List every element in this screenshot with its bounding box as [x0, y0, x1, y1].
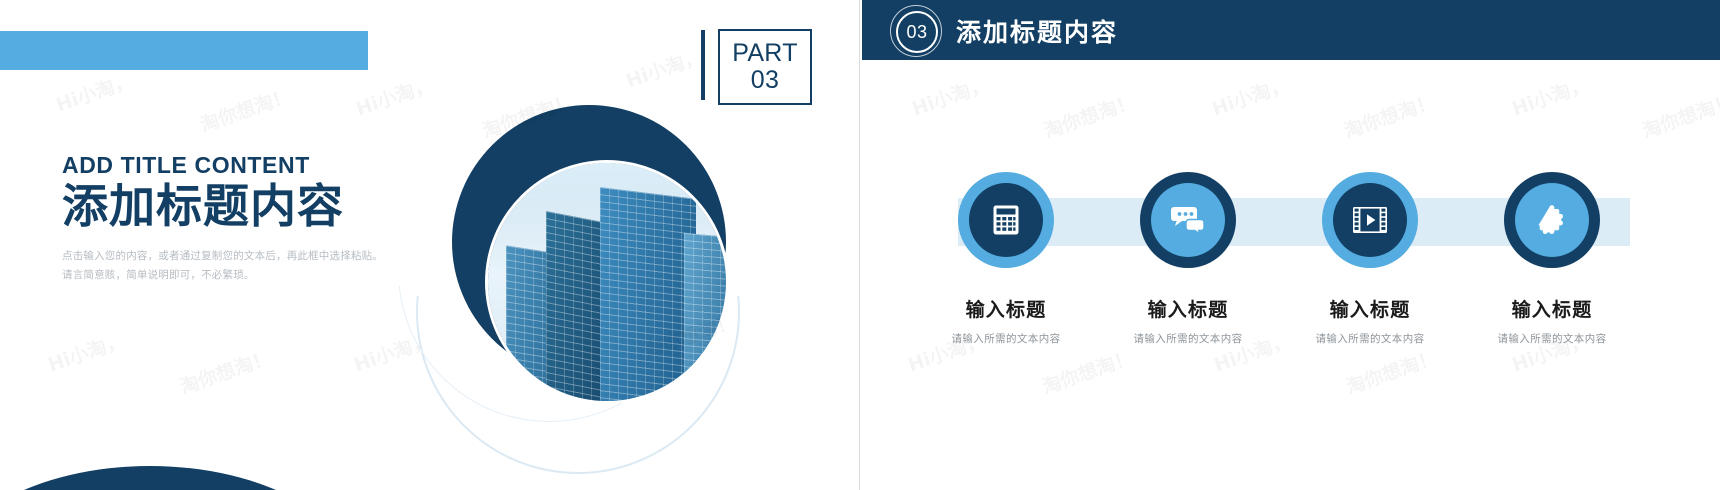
step-caption-2: 输入标题 请输入所需的文本内容 [1088, 295, 1288, 346]
step-caption-4: 输入标题 请输入所需的文本内容 [1452, 295, 1652, 346]
photo-circle [488, 163, 726, 401]
watermark: 淘你想淘！ [196, 81, 295, 137]
watermark: Hi小淘， [52, 66, 136, 117]
circular-photo-composition [452, 105, 726, 379]
step-node-3[interactable] [1322, 172, 1418, 268]
accent-bar [0, 31, 368, 70]
part-number: 03 [751, 67, 779, 94]
watermark: Hi小淘， [1508, 70, 1592, 121]
steps-row [860, 172, 1720, 292]
chat-bubbles-icon [1171, 206, 1205, 234]
node-core [969, 183, 1043, 257]
node-core [1515, 183, 1589, 257]
watermark: 淘你想淘！ [1340, 87, 1439, 143]
slide-right-section-content: 03 添加标题内容 [860, 0, 1720, 490]
watermark: 淘你想淘！ [1038, 343, 1137, 399]
step-caption-3: 输入标题 请输入所需的文本内容 [1270, 295, 1470, 346]
watermark: Hi小淘， [1208, 70, 1292, 121]
calculator-icon [993, 205, 1019, 235]
step-node-4[interactable] [1504, 172, 1600, 268]
step-title: 输入标题 [1088, 295, 1288, 322]
skyscraper-photo [488, 163, 726, 401]
step-subtitle: 请输入所需的文本内容 [1088, 331, 1288, 346]
watermark: Hi小淘， [908, 70, 992, 121]
step-subtitle: 请输入所需的文本内容 [1270, 331, 1470, 346]
part-vertical-rule [701, 30, 705, 100]
step-title: 输入标题 [1270, 295, 1470, 322]
eyebrow-title: ADD TITLE CONTENT [62, 152, 392, 179]
watermark: 淘你想淘！ [1638, 87, 1720, 143]
node-core [1151, 183, 1225, 257]
step-subtitle: 请输入所需的文本内容 [1452, 331, 1652, 346]
step-caption-1: 输入标题 请输入所需的文本内容 [906, 295, 1106, 346]
watermark: 淘你想淘！ [176, 343, 275, 399]
watermark: Hi小淘， [622, 42, 706, 93]
puzzle-piece-icon [1536, 204, 1568, 236]
watermark: Hi小淘， [352, 70, 436, 121]
step-subtitle: 请输入所需的文本内容 [906, 331, 1106, 346]
part-number-box: PART 03 [718, 29, 812, 105]
watermark: 淘你想淘！ [1040, 87, 1139, 143]
section-header-title: 添加标题内容 [956, 13, 1118, 49]
watermark: Hi小淘， [44, 326, 128, 377]
slide-left-section-cover: PART 03 ADD TITLE CONTENT 添加标题内容 点 [0, 0, 860, 490]
watermark: 淘你想淘！ [1342, 343, 1441, 399]
node-core [1333, 183, 1407, 257]
lead-line-2: 请言简意赅，简单说明即可，不必繁琐。 [62, 269, 255, 281]
slide-pair: PART 03 ADD TITLE CONTENT 添加标题内容 点 [0, 0, 1720, 490]
section-number-badge: 03 [896, 11, 938, 53]
step-node-1[interactable] [958, 172, 1054, 268]
left-text-block: ADD TITLE CONTENT 添加标题内容 点击输入您的内容，或者通过复制… [62, 152, 392, 285]
building-3 [600, 187, 696, 401]
lead-line-1: 点击输入您的内容，或者通过复制您的文本后，再此框中选择粘贴。 [62, 250, 383, 262]
lead-paragraph: 点击输入您的内容，或者通过复制您的文本后，再此框中选择粘贴。 请言简意赅，简单说… [62, 247, 392, 286]
step-node-2[interactable] [1140, 172, 1236, 268]
bottom-navy-shape [0, 466, 360, 490]
video-play-icon [1353, 207, 1387, 233]
page-title: 添加标题内容 [62, 181, 392, 233]
step-title: 输入标题 [1452, 295, 1652, 322]
building-4 [684, 233, 726, 401]
building-2 [546, 211, 608, 401]
step-title: 输入标题 [906, 295, 1106, 322]
part-label: PART [732, 40, 798, 67]
